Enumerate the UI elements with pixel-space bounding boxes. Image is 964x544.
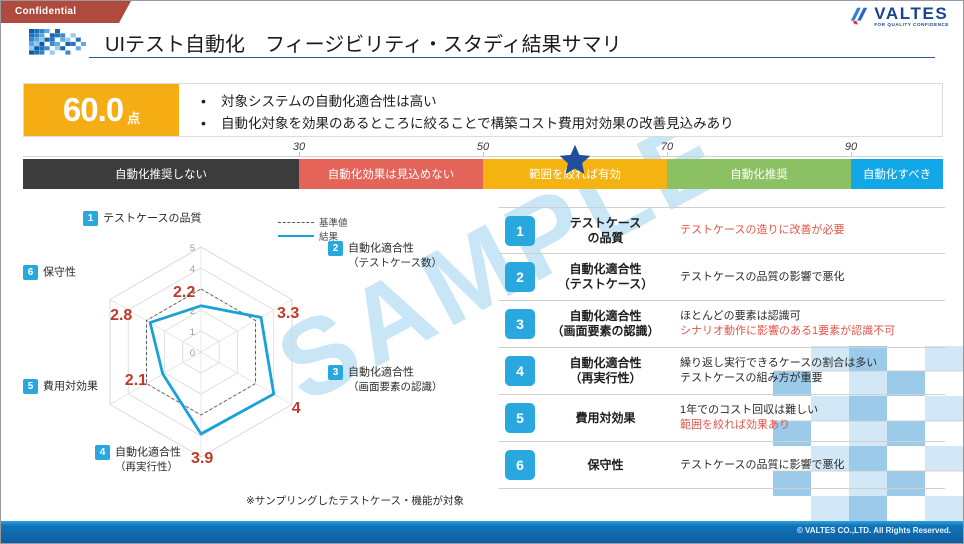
finding-description-line: 1年でのコスト回収は難しい <box>680 403 945 418</box>
scale-segment-bar: 自動化推奨しない自動化効果は見込めない範囲を絞れば有効自動化推奨自動化すべき <box>23 159 943 189</box>
finding-number-badge: 1 <box>505 216 535 246</box>
finding-name: 自動化適合性（画面要素の認識） <box>543 309 668 339</box>
radar-axis-label-text: テストケースの品質 <box>103 212 201 224</box>
score-bullet-list: 対象システムの自動化適合性は高い自動化対象を効果のあるところに絞ることで構築コス… <box>179 84 942 136</box>
radar-axis-label-sub: （画面要素の認識） <box>328 380 443 395</box>
score-box: 60.0 点 <box>24 84 179 136</box>
findings-table: 1テストケースの品質テストケースの造りに改善が必要2自動化適合性（テストケース）… <box>499 207 945 489</box>
scale-tick-mark <box>299 152 300 157</box>
title-underline <box>89 57 935 58</box>
score-scale: 30507090 自動化推奨しない自動化効果は見込めない範囲を絞れば有効自動化推… <box>23 141 943 189</box>
finding-number-badge: 5 <box>505 403 535 433</box>
finding-name-line1: 費用対効果 <box>543 411 668 426</box>
finding-name-line2: （テストケース） <box>543 277 668 292</box>
confidential-banner: Confidential <box>1 1 119 23</box>
finding-name: 費用対効果 <box>543 411 668 426</box>
finding-description-line: テストケースの造りに改善が必要 <box>680 223 945 238</box>
scale-segment: 自動化効果は見込めない <box>299 159 483 189</box>
scale-segment: 自動化推奨 <box>667 159 851 189</box>
finding-row: 5費用対効果1年でのコスト回収は難しい範囲を絞れば効果あり <box>499 395 945 442</box>
scale-segment: 範囲を絞れば有効 <box>483 159 667 189</box>
score-bullet: 自動化対象を効果のあるところに絞ることで構築コスト費用対効果の改善見込みあり <box>195 113 942 135</box>
finding-description: テストケースの品質の影響で悪化 <box>668 270 945 285</box>
svg-text:0: 0 <box>190 348 195 359</box>
svg-text:1: 1 <box>190 327 195 338</box>
valtes-name: VALTES <box>874 5 949 22</box>
finding-row: 3自動化適合性（画面要素の認識）ほとんどの要素は認識可シナリオ動作に影響のある1… <box>499 301 945 348</box>
scale-segment: 自動化推奨しない <box>23 159 299 189</box>
radar-axis-label-text: 自動化適合性 <box>348 242 414 254</box>
finding-description-line: 範囲を絞れば効果あり <box>680 418 945 433</box>
radar-axis-label-text: 保守性 <box>43 266 76 278</box>
radar-legend: 基準値結果 <box>278 215 348 243</box>
svg-text:5: 5 <box>190 243 195 254</box>
scale-tick-mark <box>483 152 484 157</box>
radar-chart-panel: 012345 基準値結果 1テストケースの品質2自動化適合性（テストケース数）3… <box>23 197 493 517</box>
finding-name-line1: テストケース <box>543 216 668 231</box>
finding-number-badge: 3 <box>505 309 535 339</box>
finding-name: 自動化適合性（テストケース） <box>543 262 668 292</box>
scale-tick-mark <box>851 152 852 157</box>
radar-axis-label-sub: （再実行性） <box>95 460 181 475</box>
radar-axis-label-text: 自動化適合性 <box>115 446 181 458</box>
page-title: UIテスト自動化 フィージビリティ・スタディ結果サマリ <box>105 28 622 57</box>
radar-axis-label-4: 4自動化適合性（再実行性） <box>95 445 181 475</box>
radar-axis-badge: 6 <box>23 265 38 280</box>
scale-tick-row: 30507090 <box>23 141 943 157</box>
radar-axis-label-3: 3自動化適合性（画面要素の認識） <box>328 365 443 395</box>
finding-description: テストケースの造りに改善が必要 <box>668 223 945 238</box>
scale-tick-mark <box>667 152 668 157</box>
radar-axis-label-2: 2自動化適合性（テストケース数） <box>328 241 442 271</box>
legend-item: 基準値 <box>278 215 348 229</box>
finding-number-badge: 4 <box>505 356 535 386</box>
legend-label: 基準値 <box>319 215 348 229</box>
radar-axis-badge: 4 <box>95 445 110 460</box>
radar-axis-label-6: 6保守性 <box>23 265 76 280</box>
footer-bar: © VALTES CO.,LTD. All Rights Reserved. <box>1 521 964 543</box>
radar-value-label: 2.8 <box>110 307 132 325</box>
radar-axis-label-5: 5費用対効果 <box>23 379 98 394</box>
finding-row: 1テストケースの品質テストケースの造りに改善が必要 <box>499 207 945 254</box>
finding-description-line: テストケースの品質の影響で悪化 <box>680 270 945 285</box>
legend-swatch <box>278 222 314 223</box>
radar-value-label: 4 <box>292 400 301 418</box>
radar-axis-label-1: 1テストケースの品質 <box>83 211 201 226</box>
valtes-mark-icon <box>848 5 870 27</box>
legend-swatch <box>278 235 314 237</box>
finding-name: テストケースの品質 <box>543 216 668 246</box>
score-bullet: 対象システムの自動化適合性は高い <box>195 91 942 113</box>
finding-description-line: シナリオ動作に影響のある1要素が認識不可 <box>680 324 945 339</box>
finding-name-line2: の品質 <box>543 231 668 246</box>
radar-axis-label-sub: （テストケース数） <box>328 256 442 271</box>
radar-value-label: 2.2 <box>173 284 195 302</box>
svg-text:4: 4 <box>190 264 195 275</box>
radar-axis-badge: 5 <box>23 379 38 394</box>
slide-canvas: SAMPLE Confidential VALTES FOR QUALITY C… <box>0 0 964 544</box>
finding-description: ほとんどの要素は認識可シナリオ動作に影響のある1要素が認識不可 <box>668 309 945 339</box>
finding-name: 自動化適合性（再実行性） <box>543 356 668 386</box>
finding-name-line1: 自動化適合性 <box>543 356 668 371</box>
finding-name-line1: 自動化適合性 <box>543 262 668 277</box>
radar-value-label: 3.3 <box>277 305 299 323</box>
title-row: UIテスト自動化 フィージビリティ・スタディ結果サマリ <box>1 25 964 59</box>
radar-value-label: 2.1 <box>125 372 147 390</box>
radar-axis-label-text: 自動化適合性 <box>348 366 414 378</box>
finding-row: 4自動化適合性（再実行性）繰り返し実行できるケースの割合は多いテストケースの組み… <box>499 348 945 395</box>
chart-footnote: ※サンプリングしたテストケース・機能が対象 <box>246 493 464 508</box>
radar-axis-badge: 3 <box>328 365 343 380</box>
finding-name-line1: 保守性 <box>543 458 668 473</box>
copyright-text: © VALTES CO.,LTD. All Rights Reserved. <box>797 526 951 535</box>
finding-description-line: テストケースの組み方が重要 <box>680 371 945 386</box>
finding-description: 繰り返し実行できるケースの割合は多いテストケースの組み方が重要 <box>668 356 945 386</box>
radar-value-label: 3.9 <box>191 450 213 468</box>
radar-axis-label-text: 費用対効果 <box>43 380 98 392</box>
finding-number-badge: 6 <box>505 450 535 480</box>
finding-name: 保守性 <box>543 458 668 473</box>
finding-name-line2: （再実行性） <box>543 371 668 386</box>
finding-name-line2: （画面要素の認識） <box>543 324 668 339</box>
finding-description: テストケースの品質に影響で悪化 <box>668 458 945 473</box>
radar-axis-badge: 2 <box>328 241 343 256</box>
finding-name-line1: 自動化適合性 <box>543 309 668 324</box>
finding-number-badge: 2 <box>505 262 535 292</box>
score-value: 60.0 <box>63 91 123 129</box>
score-summary-band: 60.0 点 対象システムの自動化適合性は高い自動化対象を効果のあるところに絞る… <box>23 83 943 137</box>
finding-description-line: テストケースの品質に影響で悪化 <box>680 458 945 473</box>
finding-description-line: 繰り返し実行できるケースの割合は多い <box>680 356 945 371</box>
mosaic-logo-icon <box>29 29 91 55</box>
radar-axis-badge: 1 <box>83 211 98 226</box>
finding-description: 1年でのコスト回収は難しい範囲を絞れば効果あり <box>668 403 945 433</box>
finding-row: 2自動化適合性（テストケース）テストケースの品質の影響で悪化 <box>499 254 945 301</box>
score-unit: 点 <box>127 108 140 127</box>
scale-segment: 自動化すべき <box>851 159 943 189</box>
finding-row: 6保守性テストケースの品質に影響で悪化 <box>499 442 945 489</box>
finding-description-line: ほとんどの要素は認識可 <box>680 309 945 324</box>
